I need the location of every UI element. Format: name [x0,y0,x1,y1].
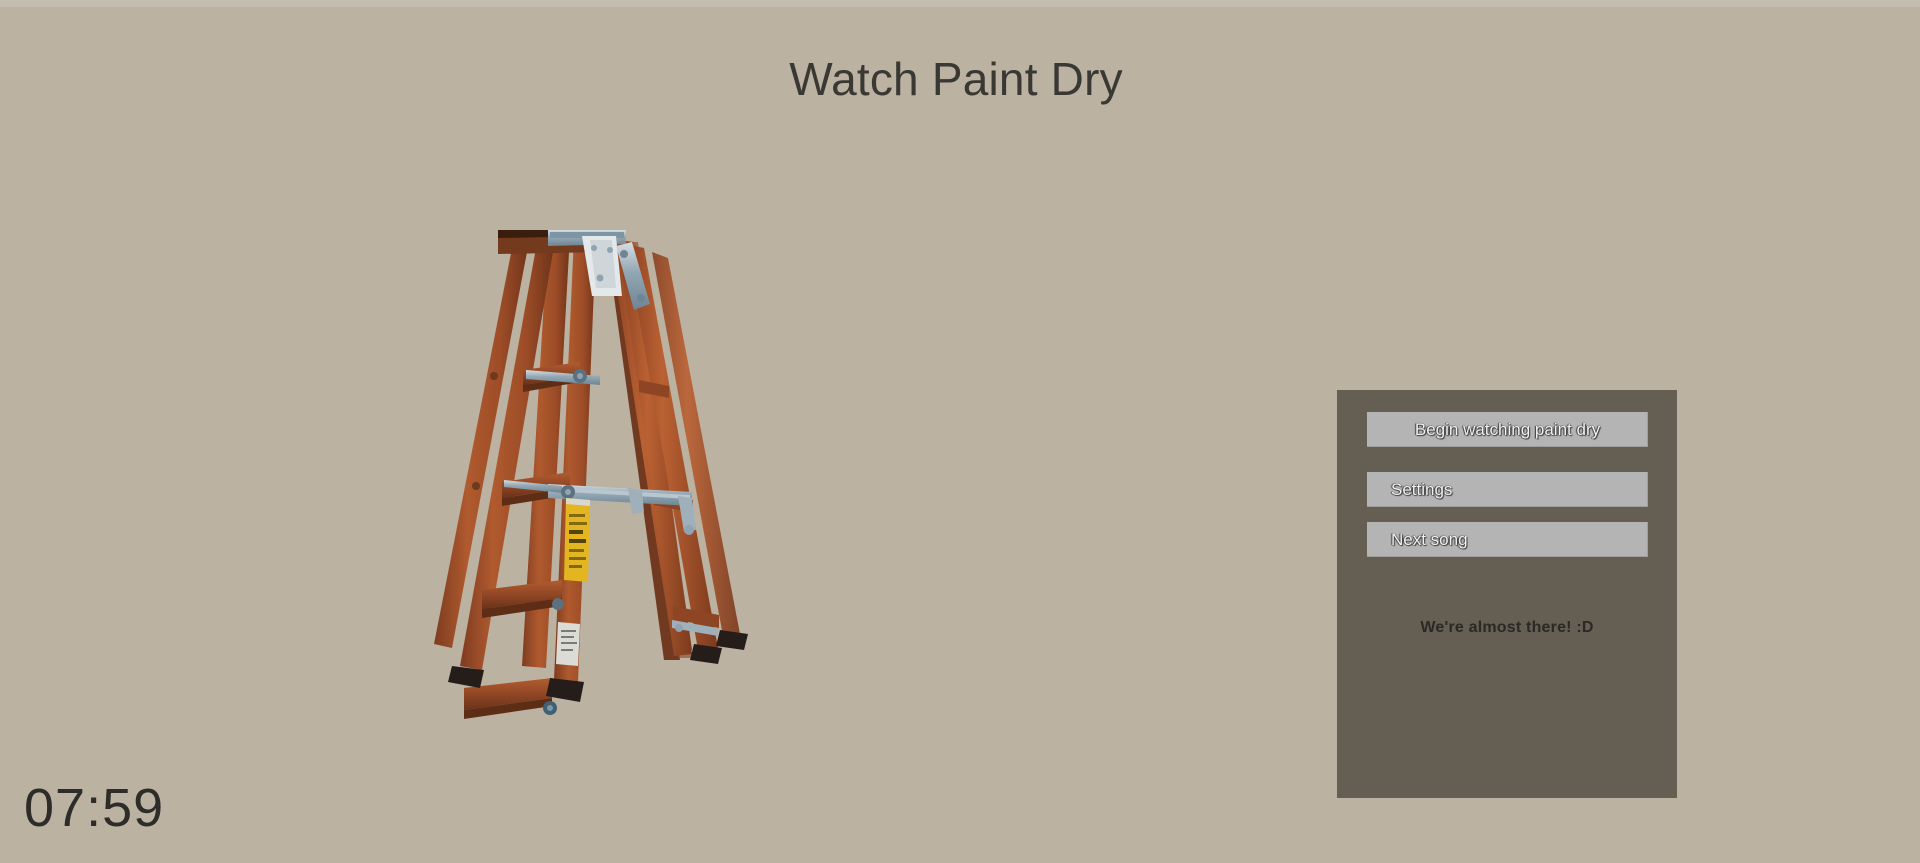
step-ladder-image [430,230,850,830]
page-title-text: Watch Paint Dry [789,52,1123,106]
game-window: Watch Paint Dry [0,0,1920,863]
begin-watching-paint-dry-button[interactable]: Begin watching paint dry [1367,412,1648,447]
spec-label [556,622,580,666]
settings-label: Settings [1367,472,1648,507]
next-song-button[interactable]: Next song [1367,522,1648,557]
menu-panel: Begin watching paint dry Settings Next s… [1337,390,1677,798]
next-song-label: Next song [1367,522,1648,557]
begin-watching-paint-dry-label: Begin watching paint dry [1367,412,1648,447]
status-message: We're almost there! :D [1337,619,1677,637]
settings-button[interactable]: Settings [1367,472,1648,507]
page-title: Watch Paint Dry [0,52,1920,106]
countdown-timer: 07:59 [24,781,164,835]
top-band [0,0,1920,7]
warning-label [564,498,590,582]
